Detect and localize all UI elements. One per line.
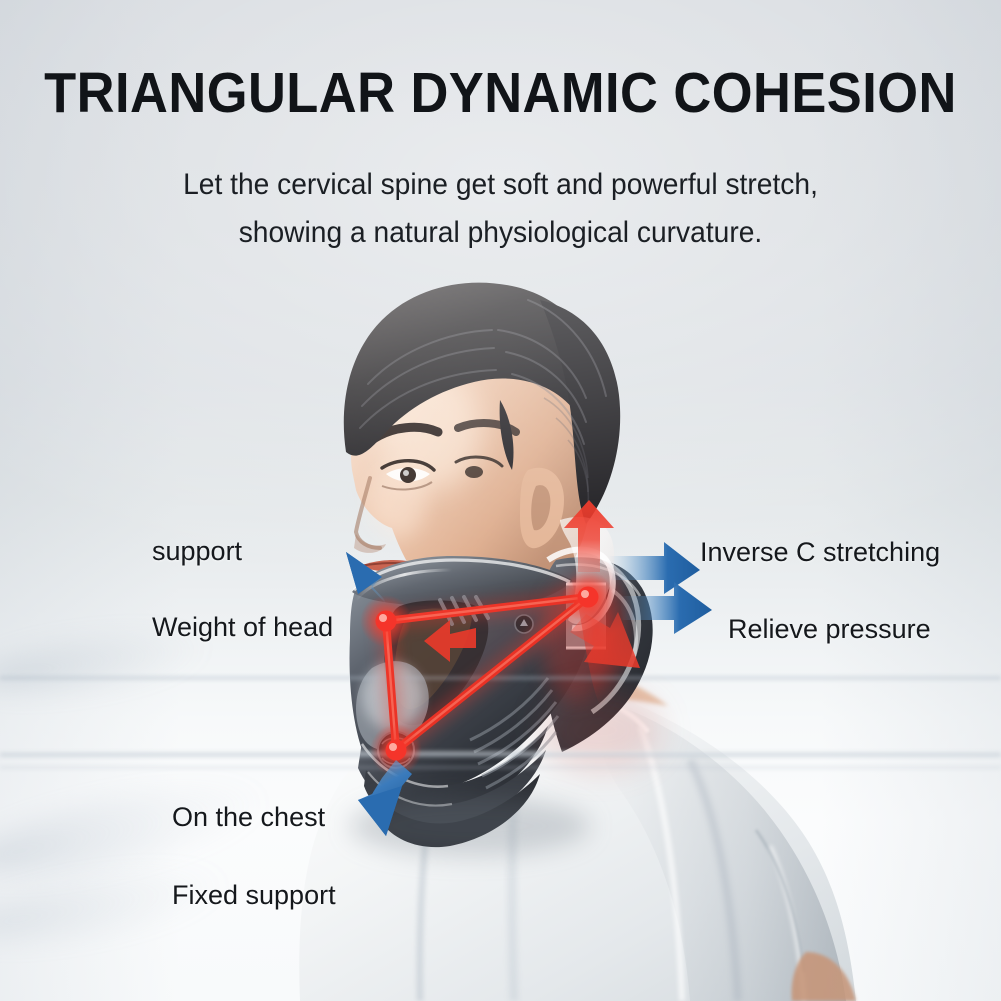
blue-arrow-chin-lift <box>346 552 386 604</box>
page-title: TRIANGULAR DYNAMIC COHESION <box>40 62 961 124</box>
red-arrow-shoulder-spread <box>570 612 640 668</box>
wall-moulding-upper <box>0 676 1001 680</box>
blue-arrow-chest-press <box>358 760 412 836</box>
subtitle-line-2: showing a natural physiological curvatur… <box>30 214 971 252</box>
blue-arrow-inverse-c <box>608 542 700 594</box>
callout-support: support <box>152 536 242 566</box>
product-photo <box>0 0 1001 1001</box>
force-diagram-overlay <box>0 0 1001 1001</box>
product-marketing-banner: TRIANGULAR DYNAMIC COHESION Let the cerv… <box>0 0 1001 1001</box>
callout-relieve-pressure: Relieve pressure <box>728 614 931 644</box>
wall-moulding-lower-shadow <box>0 766 1001 769</box>
red-arrow-inner-push <box>424 620 476 662</box>
callout-inverse-c-stretching: Inverse C stretching <box>700 537 940 567</box>
callout-weight-of-head: Weight of head <box>152 612 333 642</box>
red-arrow-nape-lift <box>564 500 614 572</box>
callout-fixed-support: Fixed support <box>172 880 336 910</box>
subtitle-line-1: Let the cervical spine get soft and powe… <box>30 166 971 204</box>
triangle-vertex-nodes <box>360 571 614 776</box>
callout-on-the-chest: On the chest <box>172 802 325 832</box>
triangle-force-diagram <box>360 571 614 776</box>
wall-moulding-lower <box>0 752 1001 757</box>
background-lighting <box>0 0 1001 1001</box>
blue-arrow-relieve-pressure <box>620 582 712 634</box>
